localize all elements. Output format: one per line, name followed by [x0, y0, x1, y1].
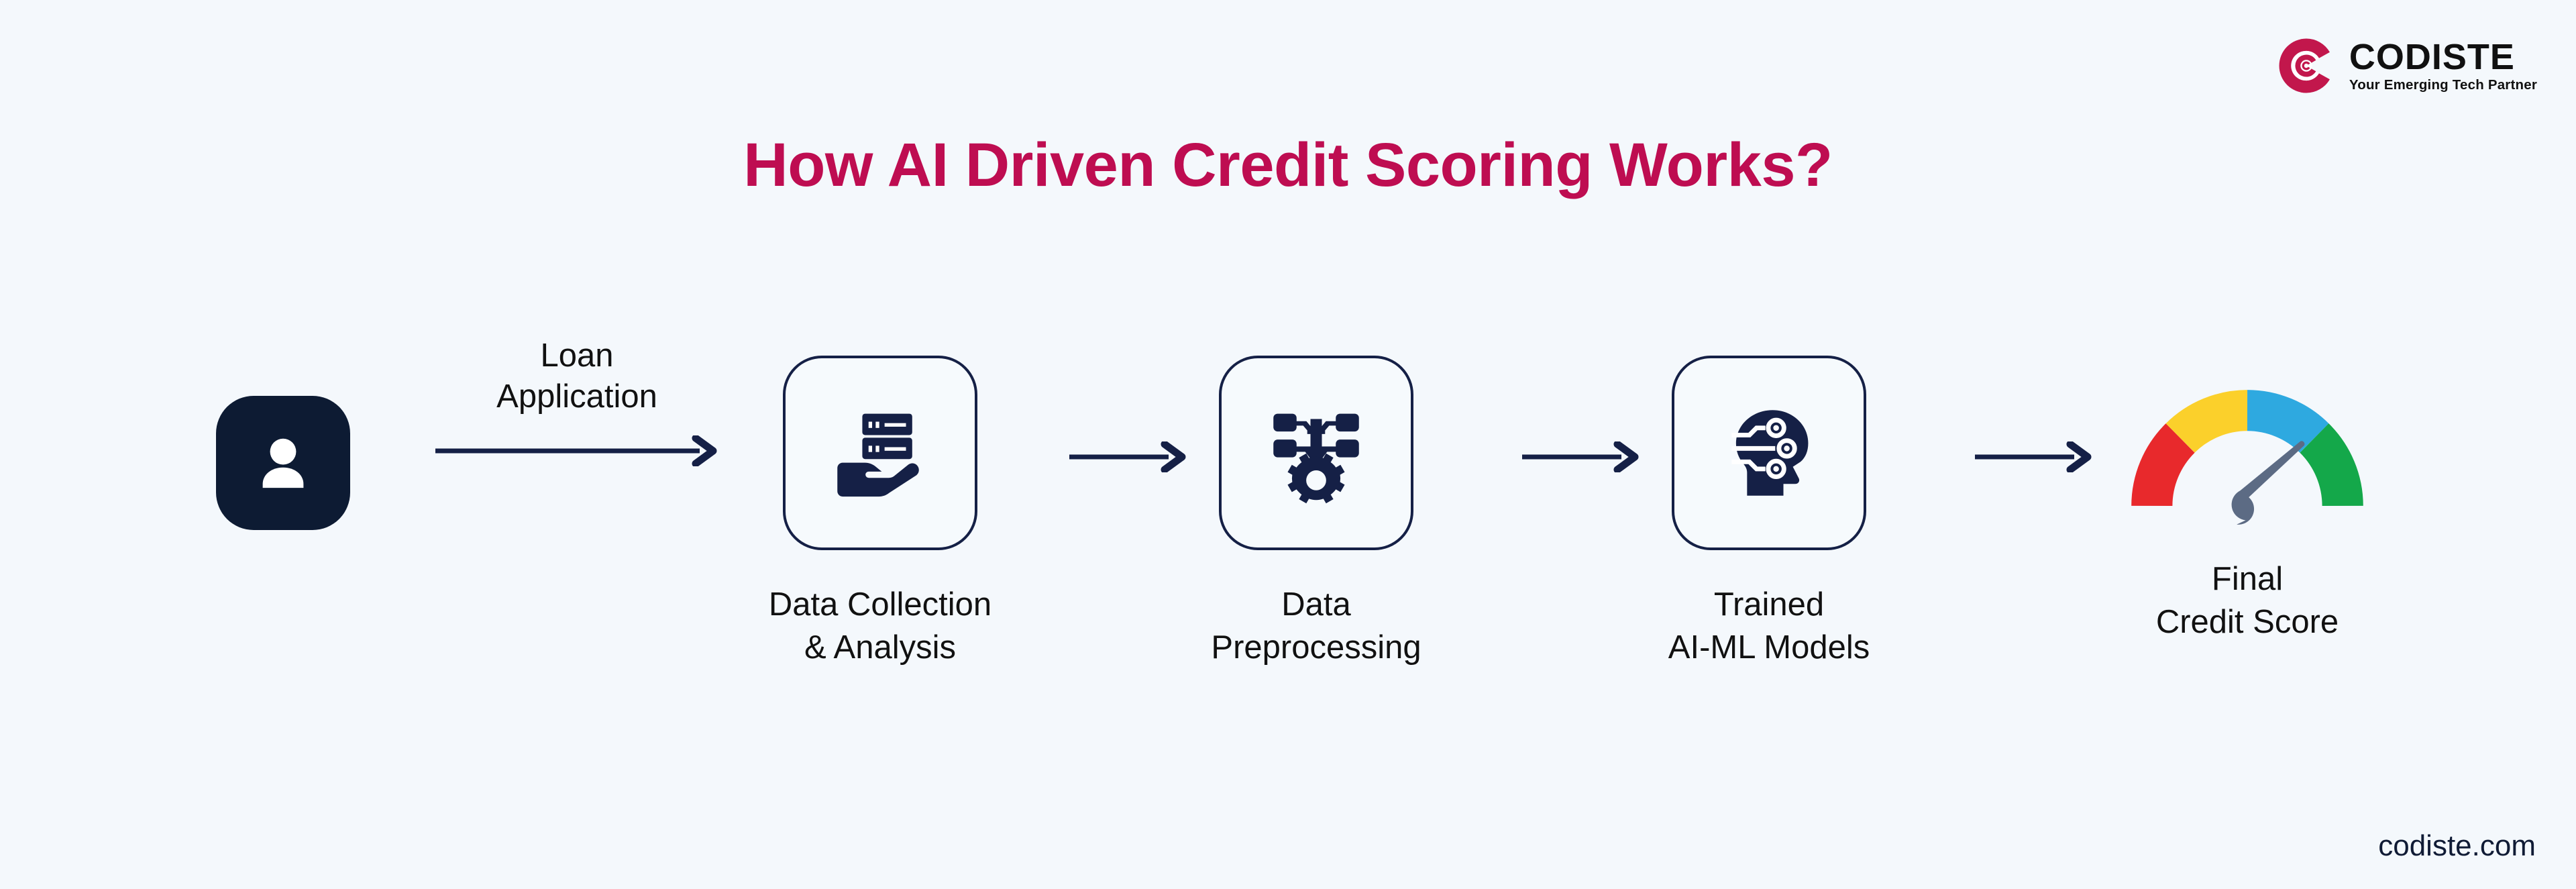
step-label-line1: Data Collection — [769, 586, 991, 623]
codiste-logomark-icon — [2275, 35, 2337, 97]
logo-wordmark: CODISTE — [2349, 39, 2515, 75]
flow-arrow-1-icon — [1067, 441, 1191, 472]
step-label-data-collection: Data Collection & Analysis — [706, 584, 1055, 669]
step-label-data-preprocessing: Data Preprocessing — [1142, 584, 1491, 669]
result-label-line1: Final — [2212, 561, 2283, 597]
step-card-data-preprocessing[interactable] — [1219, 356, 1413, 550]
step-card-data-collection[interactable] — [783, 356, 977, 550]
ai-head-circuit-icon — [1712, 396, 1826, 510]
hand-holding-database-icon — [823, 396, 937, 510]
step-label-line1: Trained — [1714, 586, 1824, 623]
page-title: How AI Driven Credit Scoring Works? — [0, 132, 2576, 199]
step-label-trained-models: Trained AI-ML Models — [1595, 584, 1943, 669]
data-nodes-gear-icon — [1259, 396, 1373, 510]
step-label-line2: Preprocessing — [1211, 629, 1421, 666]
step-label-line1: Data — [1281, 586, 1351, 623]
flow-start-user-tile — [216, 396, 350, 530]
arrow-right-icon — [433, 435, 721, 466]
step-label-line2: AI-ML Models — [1668, 629, 1870, 666]
flow-arrow-2-icon — [1519, 441, 1644, 472]
brand-logo: CODISTE Your Emerging Tech Partner — [2275, 35, 2537, 97]
result-label-line2: Credit Score — [2156, 604, 2339, 640]
entry-connector-label-line1: Loan — [540, 337, 613, 374]
step-card-trained-models[interactable] — [1672, 356, 1866, 550]
credit-score-gauge-icon — [2127, 361, 2368, 529]
user-avatar-icon — [247, 427, 319, 499]
footer-website-url: codiste.com — [2378, 831, 2536, 861]
result-label-final-credit-score: Final Credit Score — [2083, 558, 2412, 643]
step-label-line2: & Analysis — [804, 629, 956, 666]
entry-connector: Loan Application — [402, 335, 751, 470]
entry-connector-label-line2: Application — [496, 378, 657, 415]
logo-tagline: Your Emerging Tech Partner — [2349, 79, 2537, 93]
entry-connector-label: Loan Application — [402, 335, 751, 418]
flow-arrow-3-icon — [1972, 441, 2096, 472]
process-flow-diagram: Loan Application Data Collection & Analy… — [0, 322, 2576, 671]
credit-score-gauge — [2127, 361, 2368, 535]
